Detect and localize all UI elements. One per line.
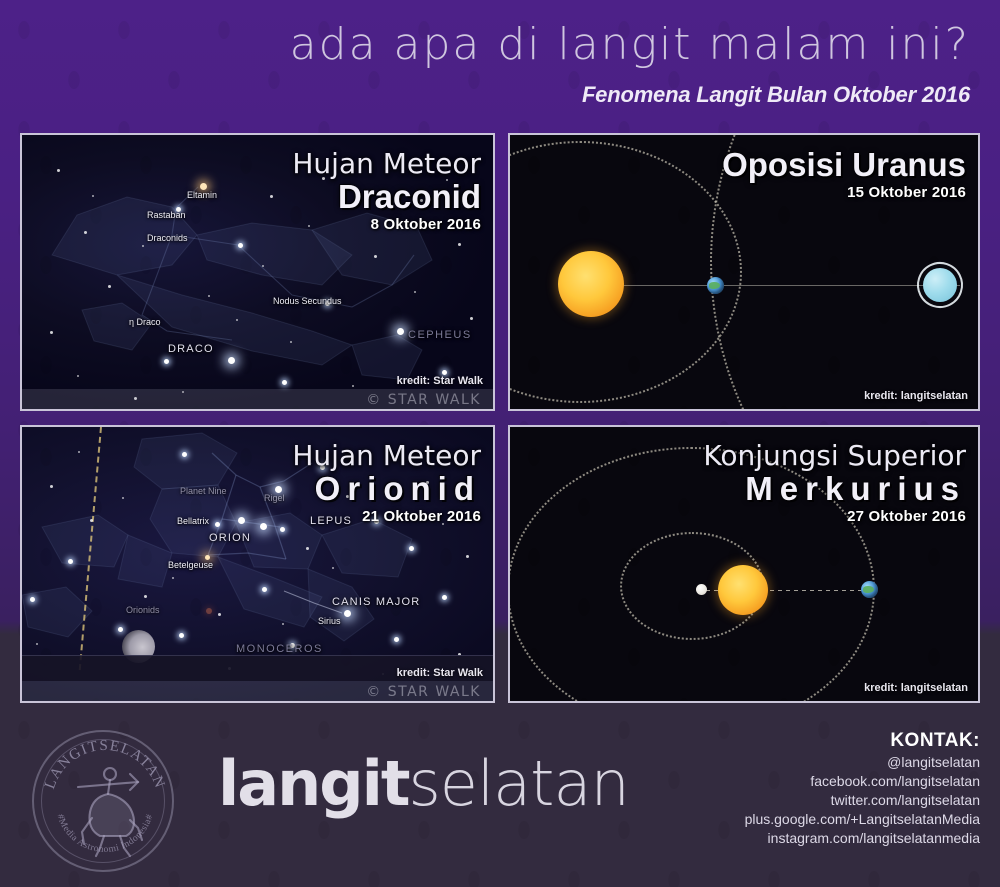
- panel-uranus-date: 15 Oktober 2016: [722, 183, 966, 203]
- infographic-poster: ada apa di langit malam ini? Fenomena La…: [0, 0, 1000, 887]
- panel-orionid-date: 21 Oktober 2016: [292, 507, 481, 527]
- star-orion-belt-2: [260, 523, 267, 530]
- star-orion-belt-1: [238, 517, 245, 524]
- star-planet-nine: [182, 452, 187, 457]
- label-planet-nine: Planet Nine: [180, 486, 227, 496]
- star-generic: [352, 385, 354, 387]
- star-generic: [409, 546, 414, 551]
- label-canis-major: CANIS MAJOR: [332, 596, 420, 608]
- brand-wordmark: langitselatan: [218, 752, 629, 816]
- star-generic: [68, 559, 73, 564]
- langitselatan-logo[interactable]: LANGITSELATAN #Media Astronomi Indonesia…: [32, 730, 174, 872]
- panel-draconid-name: Draconid: [292, 179, 481, 215]
- page-title: ada apa di langit malam ini?: [290, 22, 970, 68]
- star-generic: [466, 555, 469, 558]
- panel-uranus[interactable]: Oposisi Uranus 15 Oktober 2016 kredit: l…: [508, 133, 980, 411]
- star-orion-belt-3: [280, 527, 285, 532]
- wordmark-light: selatan: [409, 747, 629, 820]
- star-generic: [394, 637, 399, 642]
- star-generic: [118, 627, 123, 632]
- star-generic: [78, 451, 80, 453]
- label-eltamin: Eltamin: [187, 190, 217, 200]
- label-nodus-secundus: Nodus Secundus: [273, 296, 342, 306]
- earth-body: [707, 277, 724, 294]
- panel-merkurius-date: 27 Oktober 2016: [703, 507, 966, 527]
- wordmark-bold: langit: [218, 747, 409, 820]
- panel-merkurius-credit: kredit: langitselatan: [864, 682, 968, 694]
- star-generic: [90, 519, 93, 522]
- star-generic: [92, 195, 94, 197]
- star-generic: [179, 633, 184, 638]
- label-draconids: Draconids: [147, 233, 188, 243]
- logo-top-arc-text: LANGITSELATAN: [42, 738, 168, 791]
- star-generic: [144, 595, 147, 598]
- footer: LANGITSELATAN #Media Astronomi Indonesia…: [0, 712, 1000, 887]
- star-generic: [122, 497, 124, 499]
- contact-facebook[interactable]: facebook.com/langitselatan: [745, 772, 980, 791]
- star-generic: [108, 285, 111, 288]
- orionid-radiant-marker: [206, 608, 212, 614]
- panel-orionid-credit: kredit: Star Walk: [397, 667, 483, 679]
- label-eta-draco: η Draco: [129, 317, 161, 327]
- logo-artwork: LANGITSELATAN #Media Astronomi Indonesia…: [34, 732, 176, 874]
- star-generic: [208, 295, 210, 297]
- star-generic: [290, 341, 292, 343]
- star-bellatrix: [215, 522, 220, 527]
- panel-draconid-date: 8 Oktober 2016: [292, 215, 481, 235]
- panel-uranus-name: Oposisi Uranus: [722, 147, 966, 183]
- star-generic: [50, 331, 53, 334]
- star-generic: [84, 231, 87, 234]
- star-generic: [57, 169, 60, 172]
- panel-uranus-credit: kredit: langitselatan: [864, 390, 968, 402]
- starwalk-watermark-text: © STAR WALK: [366, 684, 481, 700]
- star-generic: [218, 613, 221, 616]
- label-rastaban: Rastaban: [147, 210, 186, 220]
- label-cepheus: CEPHEUS: [408, 329, 472, 341]
- star-generic: [36, 643, 38, 645]
- star-generic: [470, 317, 473, 320]
- label-monoceros: MONOCEROS: [236, 643, 323, 655]
- star-eta-draco: [164, 359, 169, 364]
- star-sirius: [344, 610, 351, 617]
- contact-twitter[interactable]: twitter.com/langitselatan: [745, 791, 980, 810]
- label-sirius: Sirius: [318, 616, 341, 626]
- panel-draconid-credit: kredit: Star Walk: [397, 375, 483, 387]
- star-generic: [172, 577, 174, 579]
- star-generic: [282, 623, 284, 625]
- sun-body: [718, 565, 768, 615]
- star-generic: [414, 291, 416, 293]
- panel-draconid[interactable]: Eltamin Rastaban Draconids Nodus Secundu…: [20, 133, 495, 411]
- star-generic: [332, 567, 334, 569]
- svg-text:LANGITSELATAN: LANGITSELATAN: [42, 738, 168, 791]
- opposition-sightline: [590, 285, 960, 286]
- starwalk-watermark-text: © STAR WALK: [366, 392, 481, 408]
- panel-draconid-kicker: Hujan Meteor: [292, 149, 481, 179]
- panel-merkurius[interactable]: Konjungsi Superior Merkurius 27 Oktober …: [508, 425, 980, 703]
- sun-body: [558, 251, 624, 317]
- star-generic: [374, 255, 377, 258]
- star-generic: [50, 485, 53, 488]
- star-generic: [458, 243, 461, 246]
- panel-orionid-name: Orionid: [292, 471, 481, 507]
- earth-body: [861, 581, 878, 598]
- star-generic: [236, 319, 238, 321]
- mercury-body: [696, 584, 707, 595]
- label-bellatrix: Bellatrix: [177, 516, 209, 526]
- star-generic: [442, 595, 447, 600]
- star-bright-draco: [228, 357, 235, 364]
- label-betelgeuse: Betelgeuse: [168, 560, 213, 570]
- contact-block: KONTAK: @langitselatan facebook.com/lang…: [745, 730, 980, 848]
- panel-uranus-title: Oposisi Uranus 15 Oktober 2016: [722, 147, 966, 203]
- contact-instagram[interactable]: instagram.com/langitselatanmedia: [745, 829, 980, 848]
- star-eltamin: [200, 183, 207, 190]
- label-draco: DRACO: [168, 343, 214, 355]
- star-generic: [30, 597, 35, 602]
- label-orion: ORION: [209, 532, 251, 544]
- star-cepheus-alpha: [397, 328, 404, 335]
- star-generic: [262, 587, 267, 592]
- label-orionids: Orionids: [126, 605, 160, 615]
- star-generic: [262, 265, 264, 267]
- page-subtitle: Fenomena Langit Bulan Oktober 2016: [582, 83, 970, 107]
- contact-handle[interactable]: @langitselatan: [745, 753, 980, 772]
- panel-draconid-title: Hujan Meteor Draconid 8 Oktober 2016: [292, 149, 481, 235]
- panel-merkurius-kicker: Konjungsi Superior: [703, 441, 966, 471]
- star-rigel: [275, 486, 282, 493]
- panel-merkurius-name: Merkurius: [703, 471, 966, 507]
- star-generic: [306, 547, 309, 550]
- panel-orionid-title: Hujan Meteor Orionid 21 Oktober 2016: [292, 441, 481, 527]
- contact-title: KONTAK:: [745, 730, 980, 752]
- contact-googleplus[interactable]: plus.google.com/+LangitselatanMedia: [745, 810, 980, 829]
- label-rigel: Rigel: [264, 493, 285, 503]
- panel-merkurius-title: Konjungsi Superior Merkurius 27 Oktober …: [703, 441, 966, 527]
- star-generic: [282, 380, 287, 385]
- star-generic: [77, 375, 79, 377]
- panel-orionid-kicker: Hujan Meteor: [292, 441, 481, 471]
- star-generic: [270, 195, 273, 198]
- header: ada apa di langit malam ini? Fenomena La…: [0, 0, 1000, 122]
- star-draconid-radiant: [238, 243, 243, 248]
- panel-orionid[interactable]: Planet Nine Rigel Bellatrix LEPUS ORION …: [20, 425, 495, 703]
- star-generic: [142, 245, 144, 247]
